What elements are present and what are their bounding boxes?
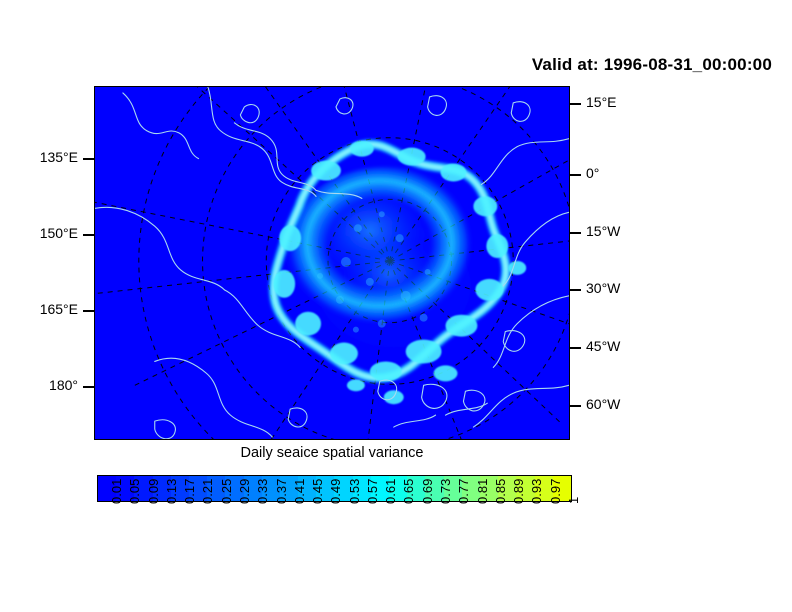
colorbar-tick-text: 0.61 — [384, 479, 397, 504]
right-axis-tick — [570, 103, 581, 105]
right-axis-label: 60°W — [586, 397, 620, 411]
left-axis-tick — [83, 234, 94, 236]
map-canvas — [95, 87, 569, 439]
colorbar-tick-text: 0.17 — [183, 479, 196, 504]
colorbar-tick-text: 0.01 — [110, 479, 123, 504]
colorbar-tick-text: 0.57 — [366, 479, 379, 504]
colorbar-tick-text: 0.33 — [256, 479, 269, 504]
colorbar-tick-text: 0.21 — [201, 479, 214, 504]
colorbar-tick-text: 0.93 — [530, 479, 543, 504]
colorbar-tick-text: 0.09 — [147, 479, 160, 504]
right-axis-label: 15°W — [586, 224, 620, 238]
colorbar-tick-text: 0.37 — [275, 479, 288, 504]
colorbar-tick-text: 0.05 — [128, 479, 141, 504]
colorbar-tick-text: 0.65 — [402, 479, 415, 504]
colorbar-tick-text: 0.89 — [512, 479, 525, 504]
right-axis-tick — [570, 405, 581, 407]
map-plot-area — [94, 86, 570, 440]
right-axis-label: 15°E — [586, 95, 617, 109]
colorbar-tick-text: 0.41 — [293, 479, 306, 504]
left-axis-label: 150°E — [40, 226, 78, 240]
colorbar-tick-text: 0.85 — [494, 479, 507, 504]
right-axis-label: 45°W — [586, 339, 620, 353]
colorbar-tick-text: 0.81 — [476, 479, 489, 504]
right-axis-label: 30°W — [586, 281, 620, 295]
colorbar-tick-text: 0.29 — [238, 479, 251, 504]
colorbar-tick-text: 0.49 — [329, 479, 342, 504]
colorbar-tick-text: 0.25 — [220, 479, 233, 504]
colorbar-tick-text: 0.77 — [457, 479, 470, 504]
right-axis-tick — [570, 174, 581, 176]
left-axis-tick — [83, 158, 94, 160]
left-axis-label: 180° — [49, 378, 78, 392]
right-axis-tick — [570, 232, 581, 234]
right-axis-tick — [570, 347, 581, 349]
colorbar-tick-text: 0.45 — [311, 479, 324, 504]
colorbar-tick-text: 0.13 — [165, 479, 178, 504]
colorbar-tick-labels: 0.010.050.090.130.170.210.250.290.330.37… — [97, 504, 572, 564]
colorbar-tick-text: 0.73 — [439, 479, 452, 504]
page-title: Valid at: 1996-08-31_00:00:00 — [0, 55, 772, 75]
left-axis-label: 135°E — [40, 150, 78, 164]
colorbar-caption: Daily seaice spatial variance — [94, 445, 570, 461]
left-axis-label: 165°E — [40, 302, 78, 316]
colorbar-tick-text: 0.97 — [549, 479, 562, 504]
colorbar-tick-text: 0.53 — [348, 479, 361, 504]
left-axis-tick — [83, 386, 94, 388]
right-axis-label: 0° — [586, 166, 599, 180]
right-axis-tick — [570, 289, 581, 291]
left-axis-tick — [83, 310, 94, 312]
colorbar-tick-text: 0.69 — [421, 479, 434, 504]
colorbar-tick-text: 1 — [567, 497, 580, 504]
